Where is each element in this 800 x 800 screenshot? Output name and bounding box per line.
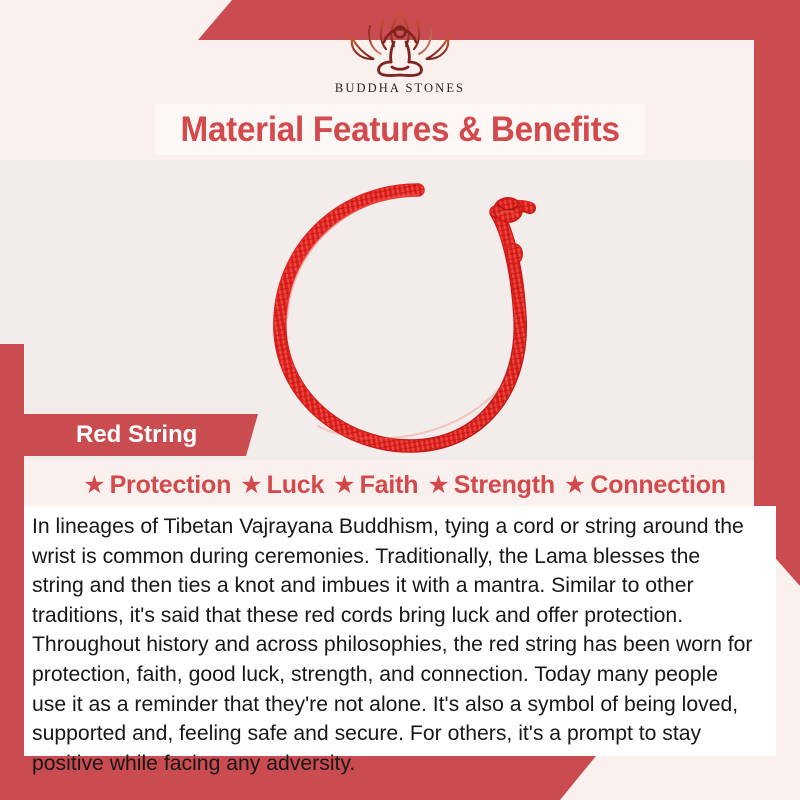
page-title: Material Features & Benefits: [180, 110, 619, 150]
red-braided-string-bracelet: [258, 168, 578, 468]
benefit-item: ★ Strength: [418, 471, 555, 500]
benefit-item: ★ Luck: [231, 471, 324, 500]
brand-name: BUDDHA STONES: [335, 81, 465, 96]
benefit-item: ★ Protection: [74, 471, 231, 500]
title-banner: Material Features & Benefits: [155, 104, 645, 155]
benefits-list: ★ Protection ★ Luck ★ Faith ★ Strength ★…: [24, 466, 776, 504]
product-image: [258, 168, 578, 468]
star-icon: ★: [83, 473, 105, 498]
benefit-item: ★ Faith: [324, 471, 418, 500]
description-box: In lineages of Tibetan Vajrayana Buddhis…: [24, 506, 776, 756]
benefit-label: Protection: [110, 471, 232, 500]
decor-left-bar: [0, 344, 24, 800]
benefit-label: Faith: [360, 471, 419, 500]
star-icon: ★: [333, 473, 355, 498]
description-text: In lineages of Tibetan Vajrayana Buddhis…: [32, 512, 753, 778]
product-tag: Red String: [24, 414, 258, 456]
star-icon: ★: [240, 473, 262, 498]
benefit-label: Luck: [267, 471, 325, 500]
benefit-item: ★ Connection: [555, 471, 726, 500]
benefit-label: Connection: [590, 471, 726, 500]
star-icon: ★: [427, 473, 449, 498]
benefit-label: Strength: [454, 471, 555, 500]
infographic-page: BUDDHA STONES Material Features & Benefi…: [0, 0, 800, 800]
star-icon: ★: [564, 473, 586, 498]
product-tag-label: Red String: [24, 421, 197, 449]
brand-logo: BUDDHA STONES: [0, 6, 800, 106]
lotus-meditation-icon: [334, 6, 466, 80]
